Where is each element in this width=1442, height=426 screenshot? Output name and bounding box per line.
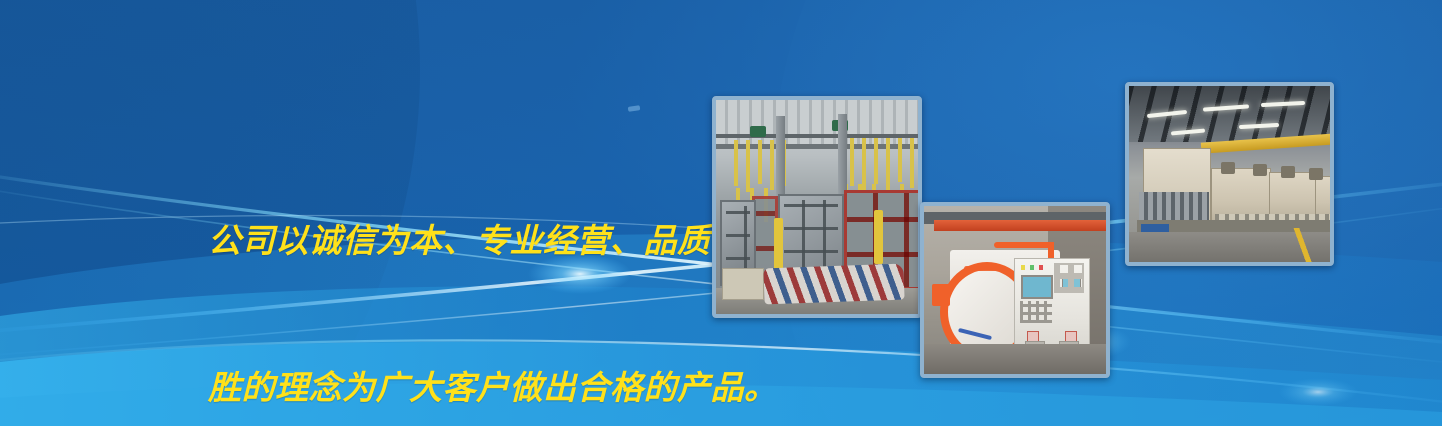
photo-continuous-furnace-line[interactable]: 厂房内连续式热处理生产线，黄色行车	[1125, 82, 1334, 266]
decorative-speck	[628, 105, 641, 112]
promotional-banner: 公司以诚信为本、专业经营、品质制 胜的理念为广大客户做出合格的产品。 主要产品：…	[0, 0, 1442, 426]
headline-text: 公司以诚信为本、专业经营、品质制 胜的理念为广大客户做出合格的产品。 主要产品：…	[208, 118, 728, 426]
photo-vacuum-furnace[interactable]: 真空热处理炉，橙色炉门圈与控制柜	[920, 202, 1110, 378]
photo-1-scene	[716, 100, 918, 314]
headline-line-2: 胜的理念为广大客户做出合格的产品。	[208, 363, 728, 412]
photo-bell-furnace-hall[interactable]: 车间内大型箱式/井式热处理炉，灰色炉门与红色炉体	[712, 96, 922, 318]
headline-line-1: 公司以诚信为本、专业经营、品质制	[208, 216, 728, 265]
photo-3-scene	[1129, 86, 1330, 262]
photo-2-scene	[924, 206, 1106, 374]
